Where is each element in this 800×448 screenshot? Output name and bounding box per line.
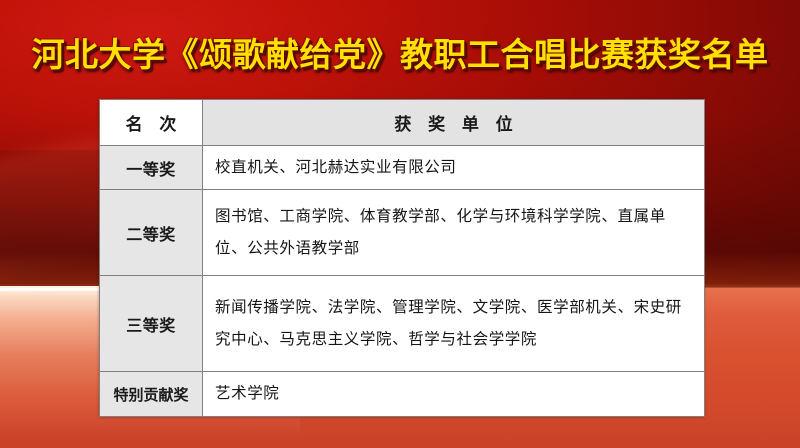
slide-canvas: 河北大学《颂歌献给党》教职工合唱比赛获奖名单 名 次 获 奖 单 位 一等奖 校… — [0, 0, 800, 448]
table-row: 三等奖 新闻传播学院、法学院、管理学院、文学院、医学部机关、宋史研究中心、马克思… — [100, 276, 705, 372]
award-units-third-prize: 新闻传播学院、法学院、管理学院、文学院、医学部机关、宋史研究中心、马克思主义学院… — [203, 276, 705, 372]
award-units-first-prize: 校直机关、河北赫达实业有限公司 — [203, 146, 705, 190]
table-row: 特别贡献奖 艺术学院 — [100, 372, 705, 417]
column-header-rank: 名 次 — [100, 100, 203, 146]
award-rank-third-prize: 三等奖 — [100, 276, 203, 372]
award-units-special-contribution: 艺术学院 — [203, 372, 705, 417]
slide-title: 河北大学《颂歌献给党》教职工合唱比赛获奖名单 — [0, 28, 800, 76]
table-row: 一等奖 校直机关、河北赫达实业有限公司 — [100, 146, 705, 190]
award-rank-special-contribution: 特别贡献奖 — [100, 372, 203, 417]
award-rank-second-prize: 二等奖 — [100, 190, 203, 276]
column-header-unit: 获 奖 单 位 — [203, 100, 705, 146]
table-header-row: 名 次 获 奖 单 位 — [100, 100, 705, 146]
award-units-second-prize: 图书馆、工商学院、体育教学部、化学与环境科学学院、直属单位、公共外语教学部 — [203, 190, 705, 276]
award-table: 名 次 获 奖 单 位 一等奖 校直机关、河北赫达实业有限公司 二等奖 图书馆、… — [99, 99, 705, 417]
table-row: 二等奖 图书馆、工商学院、体育教学部、化学与环境科学学院、直属单位、公共外语教学… — [100, 190, 705, 276]
award-table-container: 名 次 获 奖 单 位 一等奖 校直机关、河北赫达实业有限公司 二等奖 图书馆、… — [99, 99, 704, 416]
award-rank-first-prize: 一等奖 — [100, 146, 203, 190]
